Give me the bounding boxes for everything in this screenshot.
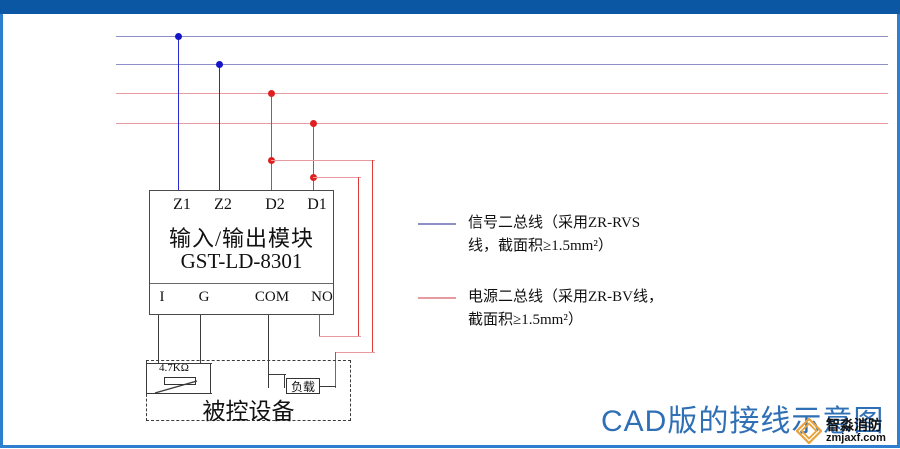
watermark: 智淼消防 zmjaxf.com <box>796 418 886 444</box>
signal-bus-line-1 <box>116 36 888 37</box>
legend-swatch-signal <box>418 223 456 225</box>
signal-bus-line-2 <box>116 64 888 65</box>
terminal-label-d1: D1 <box>307 196 327 214</box>
drop-line-z1 <box>178 36 179 190</box>
watermark-text: 智淼消防 zmjaxf.com <box>826 418 886 444</box>
legend-text-signal-line2: 线，截面积≥1.5mm²） <box>468 235 613 258</box>
controlled-device-label: 被控设备 <box>146 392 351 426</box>
top-blue-bar <box>0 0 900 14</box>
terminal-label-com: COM <box>255 289 289 306</box>
power-bus-line-2 <box>116 123 888 124</box>
terminal-label-i: I <box>160 289 165 306</box>
wire-i-down <box>158 315 159 363</box>
power-return-outer-vertical <box>372 160 373 352</box>
terminal-label-g: G <box>199 289 210 306</box>
io-module-box: Z1 Z2 D2 D1 输入/输出模块 GST-LD-8301 I G COM … <box>149 190 334 315</box>
power-return-inner-bottom <box>319 336 361 337</box>
legend-text-power-line2: 截面积≥1.5mm²） <box>468 309 583 332</box>
power-bus-line-1 <box>116 93 888 94</box>
drop-line-z2 <box>219 64 220 190</box>
drop-line-d2 <box>271 93 272 190</box>
no-terminal-stub <box>319 315 320 336</box>
junction-dot-z2 <box>216 61 223 68</box>
power-return-outer-bottom <box>335 352 375 353</box>
diagram-canvas: Z1 Z2 D2 D1 输入/输出模块 GST-LD-8301 I G COM … <box>3 14 897 445</box>
legend-swatch-power <box>418 297 456 299</box>
power-return-inner-vertical <box>358 177 359 336</box>
power-return-top-segment <box>271 160 375 161</box>
terminal-label-no: NO <box>311 289 333 306</box>
module-inner-divider <box>150 283 333 284</box>
diagram-page: Z1 Z2 D2 D1 输入/输出模块 GST-LD-8301 I G COM … <box>0 0 900 448</box>
terminal-label-z2: Z2 <box>214 196 232 214</box>
legend-text-power-line1: 电源二总线（采用ZR-BV线， <box>468 286 663 309</box>
watermark-logo-icon <box>796 418 822 444</box>
junction-dot-d2 <box>268 90 275 97</box>
junction-dot-z1 <box>175 33 182 40</box>
junction-dot-d1 <box>310 120 317 127</box>
legend-text-signal-line1: 信号二总线（采用ZR-RVS <box>468 212 640 235</box>
terminal-label-d2: D2 <box>265 196 285 214</box>
module-title-model: GST-LD-8301 <box>150 249 333 274</box>
terminal-label-z1: Z1 <box>173 196 191 214</box>
power-return-mid-segment <box>313 177 361 178</box>
wire-g-down <box>200 315 201 363</box>
watermark-url: zmjaxf.com <box>826 433 886 445</box>
watermark-brand: 智淼消防 <box>826 418 886 433</box>
